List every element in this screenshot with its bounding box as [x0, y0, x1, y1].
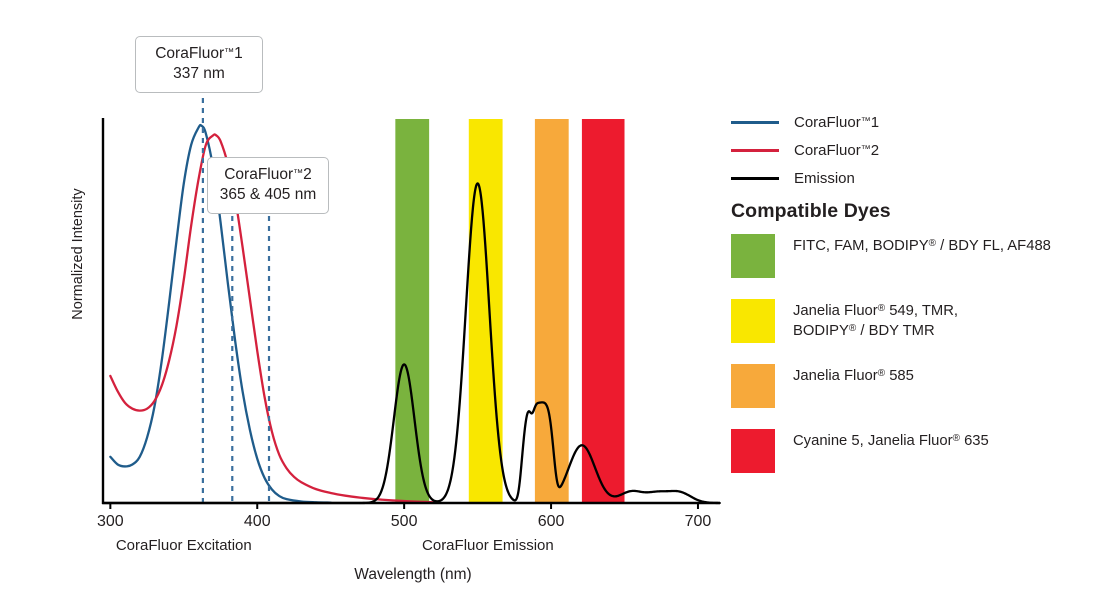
callout-2-num: 2: [303, 166, 312, 183]
legend-line-swatch-0: [731, 121, 779, 124]
emission-band-0: [395, 119, 429, 503]
x-tick-label-400: 400: [227, 513, 287, 531]
legend-label-text-1: CoraFluor: [794, 142, 861, 159]
legend-line-swatch-1: [731, 149, 779, 152]
dye-line1-2-tail: 585: [885, 368, 914, 384]
callout-2-line2: 365 & 405 nm: [218, 185, 318, 205]
dye-line1-1-text: Janelia Fluor: [793, 303, 878, 319]
callout-2-line1: CoraFluor™2: [218, 165, 318, 185]
legend-line-swatch-2: [731, 177, 779, 180]
legend-line-label-0: CoraFluor™1: [794, 114, 879, 131]
legend-label-text-0: CoraFluor: [794, 114, 861, 131]
callout-1-num: 1: [234, 45, 243, 62]
dye-line1-0-reg: ®: [929, 238, 936, 249]
line-legend: CoraFluor™1CoraFluor™2Emission: [731, 108, 1103, 192]
dye-label-3: Cyanine 5, Janelia Fluor® 635: [793, 429, 989, 452]
dye-row-0: FITC, FAM, BODIPY® / BDY FL, AF488: [731, 234, 1109, 278]
dye-line1-0: FITC, FAM, BODIPY® / BDY FL, AF488: [793, 237, 1051, 257]
dye-color-swatch-1: [731, 299, 775, 343]
dye-row-2: Janelia Fluor® 585: [731, 364, 1109, 408]
legend-label-text-2: Emission: [794, 170, 855, 187]
dye-line2-1-tail: / BDY TMR: [856, 323, 934, 339]
dye-line1-0-tail: / BDY FL, AF488: [936, 238, 1051, 254]
x-axis-title: Wavelength (nm): [283, 566, 543, 584]
legend-row-1: CoraFluor™2: [731, 136, 1103, 164]
dye-label-2: Janelia Fluor® 585: [793, 364, 914, 387]
dye-color-swatch-3: [731, 429, 775, 473]
emission-band-2: [535, 119, 569, 503]
dye-line1-1-tail: 549, TMR,: [885, 303, 958, 319]
dye-line1-1-reg: ®: [878, 303, 885, 314]
dye-line1-2: Janelia Fluor® 585: [793, 367, 914, 387]
x-tick-label-300: 300: [80, 513, 140, 531]
x-tick-label-600: 600: [521, 513, 581, 531]
callout-1-line1: CoraFluor™1: [146, 44, 252, 64]
legend-line-label-2: Emission: [794, 170, 855, 187]
dye-line1-3-reg: ®: [953, 433, 960, 444]
dye-row-3: Cyanine 5, Janelia Fluor® 635: [731, 429, 1109, 473]
compatible-dyes-legend: FITC, FAM, BODIPY® / BDY FL, AF488Janeli…: [731, 234, 1109, 494]
callout-2-name: CoraFluor: [224, 166, 293, 183]
dye-color-swatch-2: [731, 364, 775, 408]
x-tick-label-700: 700: [668, 513, 728, 531]
legend-label-tm-1: ™: [861, 144, 871, 155]
callout-1-name: CoraFluor: [155, 45, 224, 62]
callout-1-tm: ™: [224, 47, 234, 58]
spectral-chart-figure: CoraFluor™1 337 nm CoraFluor™2 365 & 405…: [0, 0, 1110, 612]
legend-label-num-1: 2: [871, 142, 879, 159]
legend-line-label-1: CoraFluor™2: [794, 142, 879, 159]
legend-row-0: CoraFluor™1: [731, 108, 1103, 136]
compatible-dyes-title: Compatible Dyes: [731, 200, 891, 223]
callout-corafluor-1: CoraFluor™1 337 nm: [135, 36, 263, 93]
dye-row-1: Janelia Fluor® 549, TMR,BODIPY® / BDY TM…: [731, 299, 1109, 343]
dye-color-swatch-0: [731, 234, 775, 278]
axis-section-excitation: CoraFluor Excitation: [64, 537, 304, 554]
y-axis-title: Normalized Intensity: [70, 164, 86, 344]
x-tick-label-500: 500: [374, 513, 434, 531]
dye-line1-2-text: Janelia Fluor: [793, 368, 878, 384]
emission-band-1: [469, 119, 503, 503]
dye-line1-2-reg: ®: [878, 368, 885, 379]
callout-2-tm: ™: [293, 168, 303, 179]
axis-section-emission: CoraFluor Emission: [368, 537, 608, 554]
dye-line1-3: Cyanine 5, Janelia Fluor® 635: [793, 432, 989, 452]
dye-line1-1: Janelia Fluor® 549, TMR,: [793, 302, 958, 322]
legend-row-2: Emission: [731, 164, 1103, 192]
dye-line1-3-text: Cyanine 5, Janelia Fluor: [793, 433, 953, 449]
dye-label-0: FITC, FAM, BODIPY® / BDY FL, AF488: [793, 234, 1051, 257]
dye-line2-1: BODIPY® / BDY TMR: [793, 322, 958, 342]
dye-label-1: Janelia Fluor® 549, TMR,BODIPY® / BDY TM…: [793, 299, 958, 342]
callout-corafluor-2: CoraFluor™2 365 & 405 nm: [207, 157, 329, 214]
dye-line1-0-text: FITC, FAM, BODIPY: [793, 238, 929, 254]
legend-label-tm-0: ™: [861, 116, 871, 127]
callout-1-line2: 337 nm: [146, 64, 252, 84]
legend-label-num-0: 1: [871, 114, 879, 131]
dye-line1-3-tail: 635: [960, 433, 989, 449]
emission-band-3: [582, 119, 625, 503]
dye-line2-1-text: BODIPY: [793, 323, 849, 339]
